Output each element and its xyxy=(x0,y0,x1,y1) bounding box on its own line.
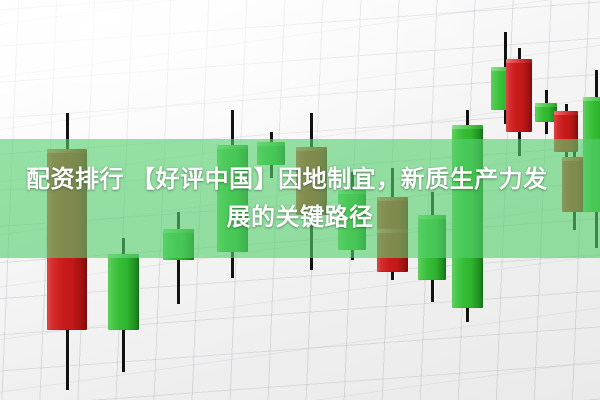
candle-body-down xyxy=(506,62,532,132)
candle-body-up xyxy=(108,257,139,330)
candlestick-banner-image: 配资排行 【好评中国】因地制宜，新质生产力发 展的关键路径 xyxy=(0,0,600,400)
candle-body-top-face xyxy=(452,125,483,129)
headline-text: 配资排行 【好评中国】因地制宜，新质生产力发 展的关键路径 xyxy=(0,161,600,237)
candle-body-top-face xyxy=(506,59,532,63)
candle-body-top-face xyxy=(583,97,600,101)
headline-line-2: 展的关键路径 xyxy=(0,199,600,237)
headline-line-1: 配资排行 【好评中国】因地制宜，新质生产力发 xyxy=(0,161,600,199)
